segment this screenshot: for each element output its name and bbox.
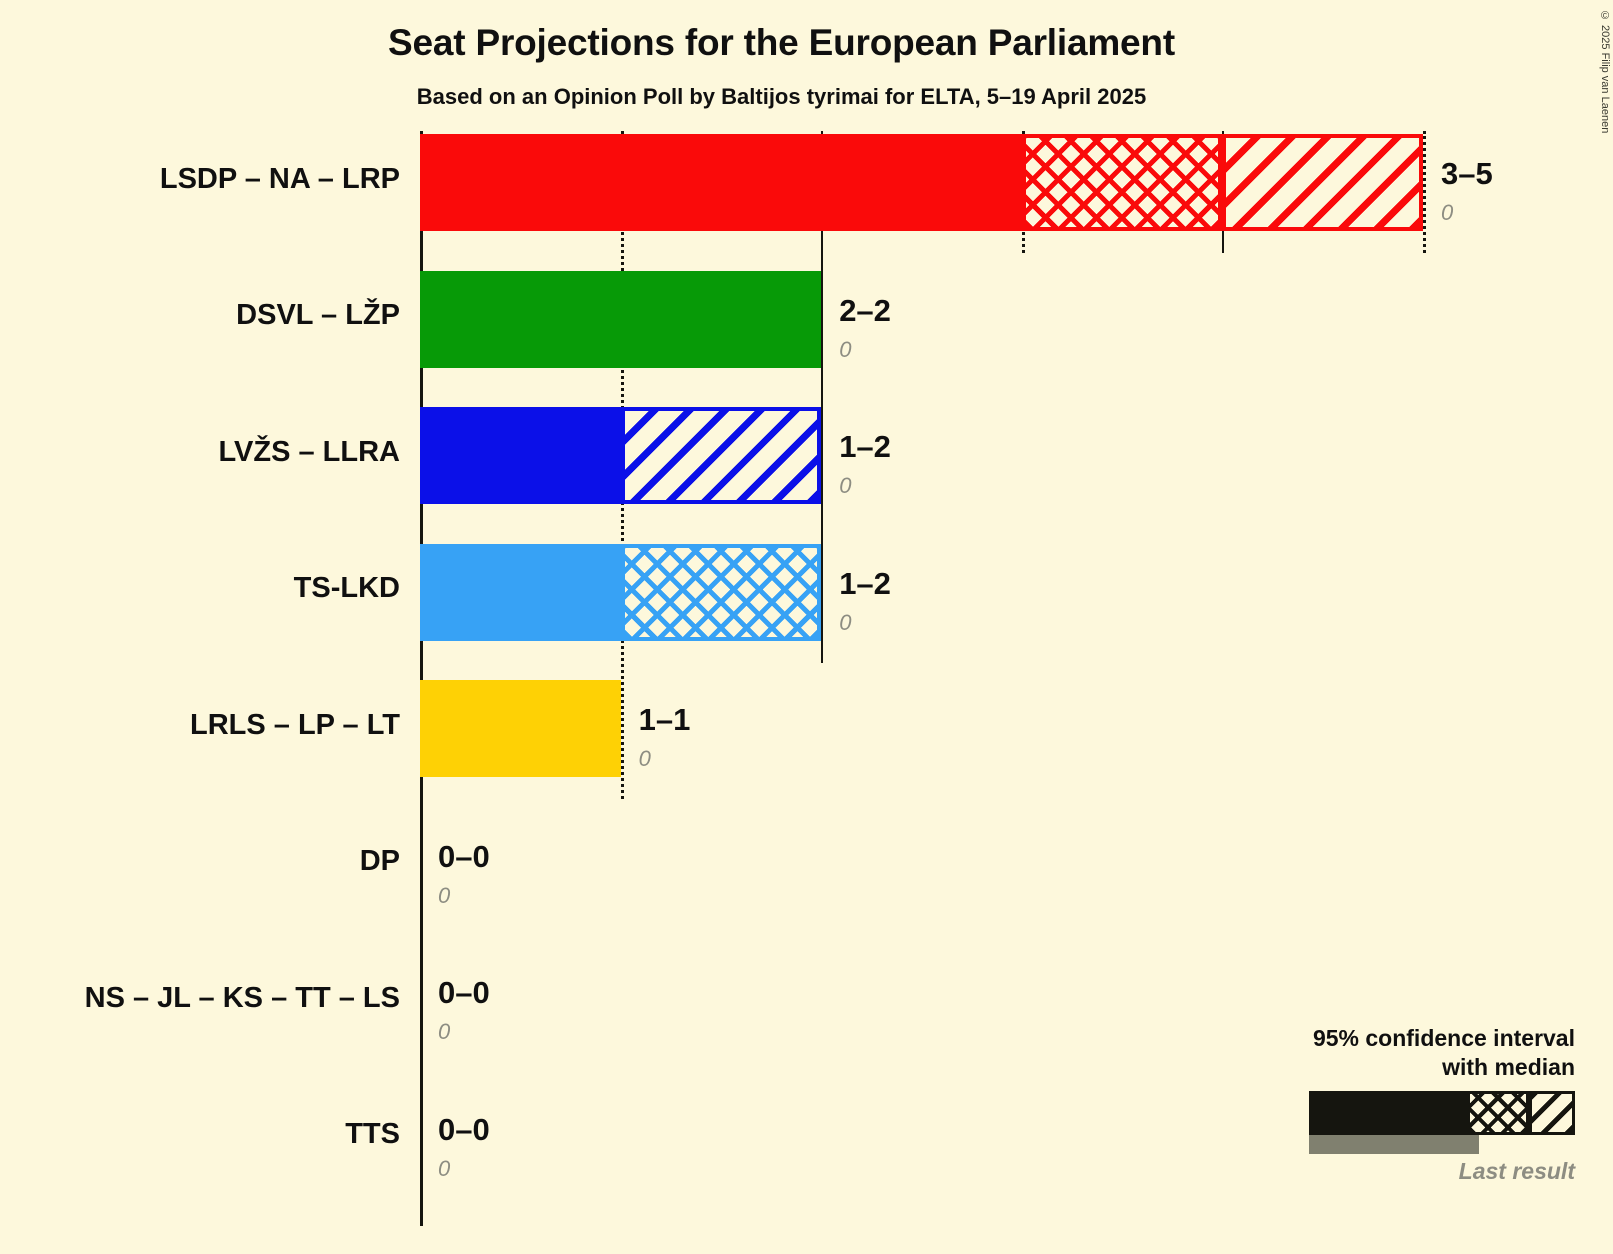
chart-page: Seat Projections for the European Parlia…	[0, 0, 1613, 1254]
value-range-label: 0–0	[438, 975, 490, 1011]
value-range-label: 1–1	[639, 702, 691, 738]
legend: 95% confidence interval with median Last…	[1245, 1024, 1575, 1185]
row-label: TTS	[0, 1118, 400, 1151]
legend-last-result-label: Last result	[1245, 1158, 1575, 1185]
chart-subtitle: Based on an Opinion Poll by Baltijos tyr…	[0, 84, 1563, 110]
bar-segment-median	[1022, 134, 1223, 231]
bar-row	[420, 544, 1423, 641]
bar-row	[420, 407, 1423, 504]
bar-segment-certain	[420, 134, 1022, 231]
bar[interactable]	[420, 680, 621, 777]
legend-segment-upper	[1529, 1091, 1575, 1135]
bar-segment-upper	[1222, 134, 1423, 231]
gridline-5	[1423, 131, 1426, 253]
last-result-label: 0	[839, 610, 851, 636]
value-range-label: 2–2	[839, 293, 891, 329]
bar-segment-certain	[420, 407, 621, 504]
legend-line-1: 95% confidence interval	[1245, 1024, 1575, 1053]
bar[interactable]	[420, 544, 821, 641]
bar-segment-certain	[420, 544, 621, 641]
row-label: DP	[0, 845, 400, 878]
bar-segment-certain	[420, 680, 621, 777]
bar[interactable]	[420, 134, 1423, 231]
value-range-label: 1–2	[839, 429, 891, 465]
legend-line-2: with median	[1245, 1053, 1575, 1082]
last-result-label: 0	[839, 337, 851, 363]
value-range-label: 0–0	[438, 1112, 490, 1148]
bar-row	[420, 271, 1423, 368]
legend-swatch-bar	[1309, 1091, 1575, 1135]
bar-segment-certain	[420, 271, 821, 368]
bar[interactable]	[420, 407, 821, 504]
row-label: NS – JL – KS – TT – LS	[0, 982, 400, 1015]
bar-segment-median	[621, 544, 822, 641]
bar-row	[420, 680, 1423, 777]
last-result-label: 0	[438, 1019, 450, 1045]
last-result-label: 0	[1441, 200, 1453, 226]
last-result-label: 0	[438, 883, 450, 909]
legend-segment-certain	[1309, 1091, 1467, 1135]
row-label: TS-LKD	[0, 572, 400, 605]
last-result-label: 0	[839, 473, 851, 499]
copyright-notice: © 2025 Filip van Laenen	[1599, 10, 1611, 133]
row-label: LRLS – LP – LT	[0, 709, 400, 742]
value-range-label: 3–5	[1441, 156, 1493, 192]
row-label: LSDP – NA – LRP	[0, 163, 400, 196]
bar-row	[420, 134, 1423, 231]
value-range-label: 1–2	[839, 566, 891, 602]
page-title: Seat Projections for the European Parlia…	[0, 22, 1563, 64]
last-result-label: 0	[639, 746, 651, 772]
row-label: LVŽS – LLRA	[0, 436, 400, 469]
value-range-label: 0–0	[438, 839, 490, 875]
row-label: DSVL – LŽP	[0, 299, 400, 332]
bar-segment-upper	[621, 407, 822, 504]
legend-last-result-swatch	[1309, 1135, 1479, 1154]
last-result-label: 0	[438, 1156, 450, 1182]
legend-segment-median	[1467, 1091, 1529, 1135]
bar-row	[420, 817, 1423, 914]
bar[interactable]	[420, 271, 821, 368]
